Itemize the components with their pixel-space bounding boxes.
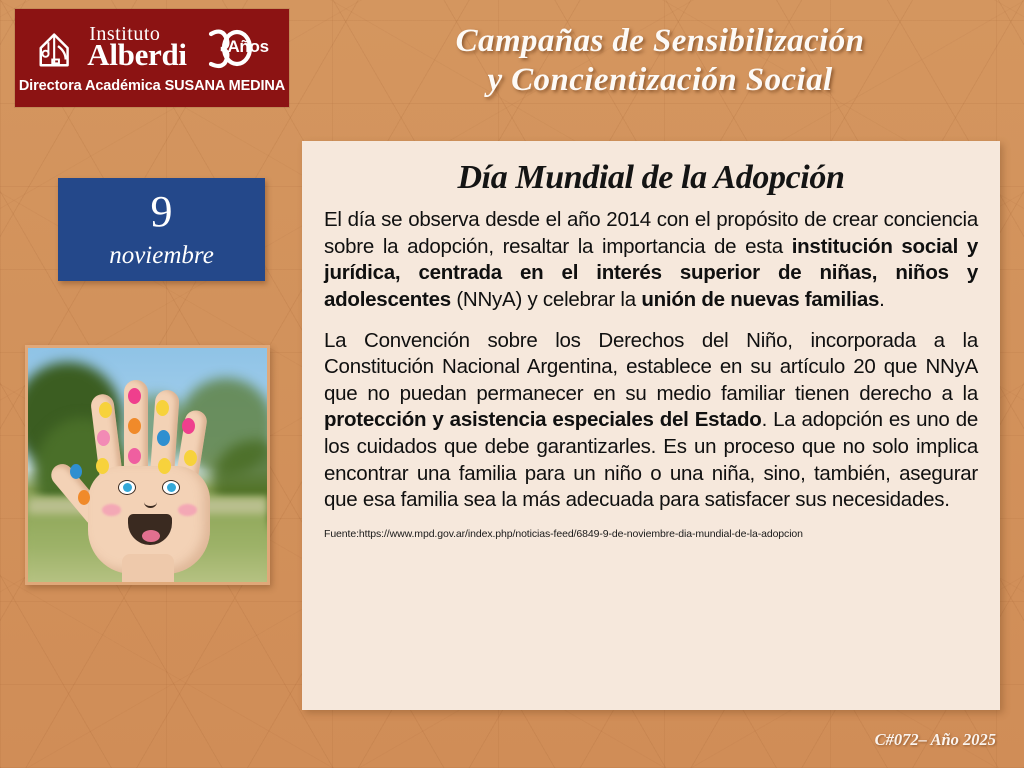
paint-dot (158, 458, 171, 474)
date-day: 9 (151, 190, 173, 234)
text-run: La Convención sobre los Derechos del Niñ… (324, 329, 978, 405)
paint-dot (128, 388, 141, 404)
paint-dot (184, 450, 197, 466)
logo-wordmark: Instituto Alberdi (87, 25, 187, 70)
paint-dot (156, 400, 169, 416)
hand-nose (144, 496, 157, 508)
logo-alberdi-text: Alberdi (87, 41, 187, 70)
emphasis-run: unión de nuevas familias (641, 288, 879, 311)
house-scales-icon (35, 25, 81, 71)
anniversary-badge: Años (197, 25, 269, 71)
logo-top-row: Instituto Alberdi Años (35, 25, 269, 71)
content-card: Día Mundial de la Adopción El día se obs… (302, 141, 1000, 710)
institute-logo-block: Instituto Alberdi Años Directora Académi… (15, 9, 289, 107)
page-title-line-1: Campañas de Sensibilización (330, 22, 990, 61)
hand-cheek-right (178, 504, 197, 516)
paint-dot (78, 490, 90, 505)
body-paragraph: El día se observa desde el año 2014 con … (324, 207, 978, 314)
paint-dot (97, 430, 110, 446)
footer-code: C#072– Año 2025 (875, 730, 996, 750)
hand-wrist (122, 554, 174, 582)
poster-canvas: Instituto Alberdi Años Directora Académi… (0, 0, 1024, 768)
page-title: Campañas de Sensibilización y Concientiz… (330, 22, 990, 100)
source-note: Fuente:https://www.mpd.gov.ar/index.php/… (324, 528, 978, 540)
text-run: (NNyA) y celebrar la (451, 288, 641, 311)
paint-dot (128, 448, 141, 464)
eye-pupil (123, 483, 132, 492)
paint-dot (182, 418, 195, 434)
page-title-line-2: y Concientización Social (330, 61, 990, 100)
body-paragraph: La Convención sobre los Derechos del Niñ… (324, 328, 978, 514)
date-badge: 9 noviembre (58, 178, 265, 281)
director-line: Directora Académica SUSANA MEDINA (19, 78, 285, 94)
eye-pupil (167, 483, 176, 492)
photo-frame (25, 345, 270, 585)
card-title: Día Mundial de la Adopción (324, 159, 978, 197)
paint-dot (128, 418, 141, 434)
hand-cheek-left (102, 504, 121, 516)
date-month: noviembre (109, 243, 214, 268)
paint-dot (70, 464, 82, 479)
paint-dot (96, 458, 109, 474)
text-run: . (879, 288, 884, 311)
hand-eye-left (118, 480, 136, 495)
smiling-painted-hand-photo (28, 348, 267, 582)
anniversary-label: Años (227, 37, 268, 57)
paint-dot (99, 402, 112, 418)
hand-eye-right (162, 480, 180, 495)
hand-illustration (66, 368, 234, 582)
emphasis-run: protección y asistencia especiales del E… (324, 408, 762, 431)
paint-dot (157, 430, 170, 446)
hand-tongue (142, 530, 160, 542)
